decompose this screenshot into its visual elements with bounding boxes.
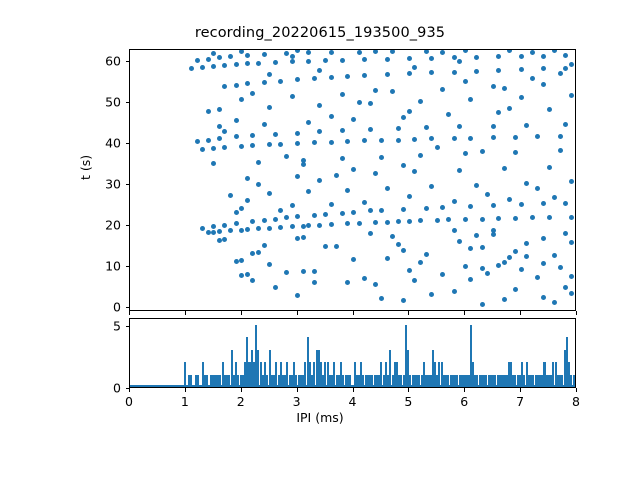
scatter-point [329,202,334,207]
scatter-point [217,107,222,112]
scatter-point [563,285,568,290]
scatter-point [373,220,378,225]
scatter-point [513,150,518,155]
scatter-point [558,265,563,270]
raster-y-tick [126,225,130,226]
scatter-point [485,271,490,276]
scatter-point [329,50,334,55]
scatter-point [222,145,227,150]
scatter-point [418,218,423,223]
scatter-point [474,69,479,74]
scatter-point [278,208,283,213]
scatter-point [306,189,311,194]
histogram-x-ticklabel: 8 [572,394,580,409]
raster-y-ticklabel: 40 [81,136,121,151]
scatter-point [200,226,205,231]
scatter-point [474,233,479,238]
scatter-point [267,105,272,110]
scatter-point [357,100,362,105]
scatter-point [468,246,473,251]
scatter-point [552,253,557,258]
scatter-point [267,72,272,77]
scatter-point [301,162,306,167]
scatter-point [480,149,485,154]
scatter-point [480,245,485,250]
scatter-point [552,300,557,305]
histogram-x-ticklabel: 4 [349,394,357,409]
histogram-x-tick [353,388,354,392]
scatter-point [440,205,445,210]
scatter-point [468,204,473,209]
scatter-point [396,219,401,224]
scatter-point [491,135,496,140]
scatter-point [507,255,512,260]
scatter-point [239,273,244,278]
scatter-point [295,236,300,241]
scatter-point [558,148,563,153]
scatter-point [234,259,239,264]
scatter-point [396,138,401,143]
histogram-axes [129,318,576,388]
scatter-point [250,143,255,148]
scatter-point [463,217,468,222]
scatter-point [452,228,457,233]
scatter-point [463,49,468,53]
scatter-point [379,208,384,213]
scatter-point [189,66,194,71]
scatter-point [368,101,373,106]
scatter-point [334,173,339,178]
scatter-point [502,260,507,265]
scatter-point [267,226,272,231]
scatter-point [429,292,434,297]
scatter-point [468,277,473,282]
scatter-point [463,151,468,156]
raster-x-tick [297,311,298,315]
scatter-point [373,88,378,93]
scatter-point [412,278,417,283]
scatter-point [418,260,423,265]
scatter-point [301,269,306,274]
scatter-point [452,199,457,204]
scatter-point [267,262,272,267]
scatter-point [306,59,311,64]
scatter-point [278,79,283,84]
scatter-point [295,141,300,146]
scatter-point [368,127,373,132]
raster-x-tick [520,311,521,315]
scatter-point [552,195,557,200]
scatter-point [267,142,272,147]
scatter-point [385,72,390,77]
raster-x-tick [576,311,577,315]
scatter-point [340,211,345,216]
raster-y-ticklabel: 10 [81,258,121,273]
histogram-y-tick [126,326,130,327]
scatter-point [412,137,417,142]
scatter-point [206,230,211,235]
histogram-x-tick [297,388,298,392]
scatter-point [245,272,250,277]
scatter-point [256,61,261,66]
scatter-point [222,129,227,134]
scatter-point [351,257,356,262]
scatter-point [306,120,311,125]
scatter-point [379,296,384,301]
scatter-point [256,226,261,231]
scatter-point [234,62,239,67]
histogram-x-ticklabel: 0 [125,394,133,409]
scatter-point [452,70,457,75]
raster-x-tick [408,311,409,315]
scatter-point [245,198,250,203]
scatter-point [329,222,334,227]
scatter-point [211,224,216,229]
scatter-point [206,138,211,143]
scatter-point [312,280,317,285]
scatter-point [530,50,535,55]
scatter-point [228,193,233,198]
scatter-point [547,165,552,170]
scatter-point [211,161,216,166]
scatter-point [569,274,574,279]
scatter-point [206,57,211,62]
scatter-point [345,139,350,144]
scatter-point [290,54,295,59]
histogram-x-tick [576,388,577,392]
scatter-point [250,219,255,224]
scatter-point [273,60,278,65]
scatter-point [345,188,350,193]
scatter-point [440,272,445,277]
scatter-point [256,160,261,165]
scatter-point [435,218,440,223]
scatter-point [317,178,322,183]
histogram-x-ticklabel: 5 [404,394,412,409]
scatter-point [373,171,378,176]
scatter-point [513,249,518,254]
scatter-point [284,215,289,220]
scatter-point [519,67,524,72]
scatter-point [412,65,417,70]
scatter-point [379,155,384,160]
scatter-point [513,287,518,292]
histogram-x-tick [241,388,242,392]
scatter-point [217,229,222,234]
scatter-point [262,80,267,85]
histogram-x-tick [408,388,409,392]
scatter-point [563,53,568,58]
scatter-point [211,230,216,235]
scatter-point [496,68,501,73]
scatter-point [424,206,429,211]
scatter-point [234,210,239,215]
scatter-point [345,74,350,79]
scatter-point [234,221,239,226]
raster-y-ticklabel: 50 [81,95,121,110]
scatter-point [424,125,429,130]
scatter-point [535,275,540,280]
raster-y-tick [126,307,130,308]
scatter-point [222,223,227,228]
scatter-point [385,186,390,191]
scatter-point [569,62,574,67]
scatter-point [362,73,367,78]
scatter-point [312,76,317,81]
scatter-point [519,202,524,207]
scatter-point [234,118,239,123]
scatter-point [507,197,512,202]
raster-y-tick [126,61,130,62]
scatter-point [457,59,462,64]
histogram-x-ticklabel: 3 [293,394,301,409]
scatter-point [429,70,434,75]
scatter-point [480,302,485,307]
scatter-point [284,270,289,275]
scatter-point [407,109,412,114]
scatter-point [418,153,423,158]
scatter-point [245,176,250,181]
scatter-point [290,224,295,229]
matplotlib-figure: recording_20220615_193500_935 0102030405… [0,0,640,480]
scatter-point [480,266,485,271]
scatter-point [312,269,317,274]
scatter-point [211,146,216,151]
scatter-point [228,228,233,233]
histogram-bar [575,362,576,387]
scatter-point [563,66,568,71]
scatter-point [502,297,507,302]
scatter-point [407,268,412,273]
scatter-point [496,110,501,115]
scatter-point [435,145,440,150]
scatter-point [524,254,529,259]
scatter-point [211,64,216,69]
scatter-point [273,217,278,222]
scatter-point [217,124,222,129]
scatter-point [362,276,367,281]
histogram-x-tick [520,388,521,392]
scatter-point [340,128,345,133]
scatter-point [401,248,406,253]
scatter-point [200,65,205,70]
scatter-point [407,194,412,199]
scatter-point [418,99,423,104]
scatter-point [239,49,244,54]
histogram-y-ticklabel: 0 [81,381,121,396]
scatter-point [558,134,563,139]
raster-y-axis-label: t (s) [78,155,93,180]
scatter-point [541,236,546,241]
scatter-point [569,215,574,220]
scatter-point [245,81,250,86]
raster-plot-axes [129,49,576,311]
histogram-x-ticklabel: 2 [237,394,245,409]
scatter-point [345,280,350,285]
scatter-point [295,77,300,82]
scatter-point [206,109,211,114]
scatter-point [468,97,473,102]
scatter-point [547,107,552,112]
scatter-point [262,52,267,57]
scatter-point [474,55,479,60]
scatter-point [250,133,255,138]
scatter-point [234,134,239,139]
scatter-point [407,71,412,76]
scatter-point [401,298,406,303]
histogram-x-tick [129,388,130,392]
scatter-point [239,228,244,233]
scatter-point [211,51,216,56]
scatter-point [195,58,200,63]
scatter-point [362,57,367,62]
scatter-point [424,49,429,54]
scatter-point [452,136,457,141]
histogram-x-ticklabel: 1 [181,394,189,409]
scatter-point [474,183,479,188]
scatter-point [290,59,295,64]
scatter-point [245,227,250,232]
scatter-point [491,84,496,89]
histogram-bar [349,375,351,388]
scatter-point [535,186,540,191]
scatter-point [563,201,568,206]
scatter-point [390,89,395,94]
scatter-point [317,223,322,228]
scatter-point [552,49,557,53]
scatter-point [317,129,322,134]
scatter-point [446,112,451,117]
scatter-point [524,123,529,128]
scatter-point [519,267,524,272]
scatter-point [457,168,462,173]
scatter-point [513,135,518,140]
scatter-point [245,53,250,58]
scatter-point [379,138,384,143]
scatter-point [323,244,328,249]
raster-x-tick [353,311,354,315]
scatter-point [222,63,227,68]
scatter-point [401,163,406,168]
scatter-point [385,256,390,261]
scatter-point [234,83,239,88]
scatter-point [457,239,462,244]
scatter-point [295,174,300,179]
scatter-point [222,84,227,89]
scatter-point [480,217,485,222]
scatter-point [306,223,311,228]
scatter-point [440,87,445,92]
raster-x-tick [185,311,186,315]
scatter-point [368,231,373,236]
scatter-point [396,242,401,247]
scatter-point [195,139,200,144]
scatter-point [541,295,546,300]
scatter-point [541,261,546,266]
scatter-point [440,50,445,55]
scatter-point [530,76,535,81]
scatter-point [256,250,261,255]
scatter-point [222,237,227,242]
scatter-point [340,156,345,161]
raster-y-ticklabel: 0 [81,299,121,314]
scatter-point [284,154,289,159]
scatter-point [524,181,529,186]
raster-x-tick [464,311,465,315]
scatter-point [569,179,574,184]
scatter-point [317,68,322,73]
scatter-point [401,115,406,120]
scatter-point [317,103,322,108]
scatter-point [390,49,395,54]
raster-x-tick [241,311,242,315]
scatter-point [396,126,401,131]
scatter-point [452,289,457,294]
scatter-point [401,207,406,212]
scatter-point [301,224,306,229]
scatter-point [262,218,267,223]
scatter-point [569,93,574,98]
scatter-point [340,58,345,63]
scatter-point [290,203,295,208]
scatter-point [267,191,272,196]
scatter-point [429,56,434,61]
scatter-point [323,58,328,63]
scatter-point [541,82,546,87]
scatter-point [340,92,345,97]
histogram-bar [206,375,208,388]
scatter-point [412,169,417,174]
scatter-point [519,54,524,59]
raster-x-tick [129,311,130,315]
scatter-point [424,252,429,257]
scatter-point [250,278,255,283]
scatter-point [547,215,552,220]
histogram-x-ticklabel: 6 [460,394,468,409]
scatter-point [446,217,451,222]
scatter-point [323,212,328,217]
scatter-point [295,49,300,53]
scatter-point [513,216,518,221]
scatter-point [295,131,300,136]
scatter-point [502,86,507,91]
scatter-point [273,285,278,290]
histogram-bar [190,375,192,388]
scatter-point [385,220,390,225]
scatter-point [390,234,395,239]
scatter-point [250,91,255,96]
scatter-point [312,213,317,218]
scatter-point [357,221,362,226]
scatter-point [362,138,367,143]
scatter-point [262,122,267,127]
scatter-point [217,55,222,60]
histogram-x-tick [185,388,186,392]
scatter-point [239,258,244,263]
scatter-point [239,206,244,211]
scatter-point [496,54,501,59]
scatter-point [278,142,283,147]
scatter-point [407,219,412,224]
raster-y-tick [126,102,130,103]
scatter-point [452,55,457,60]
scatter-point [329,114,334,119]
scatter-point [463,79,468,84]
scatter-point [351,117,356,122]
scatter-point [563,231,568,236]
scatter-point [295,214,300,219]
scatter-point [329,140,334,145]
